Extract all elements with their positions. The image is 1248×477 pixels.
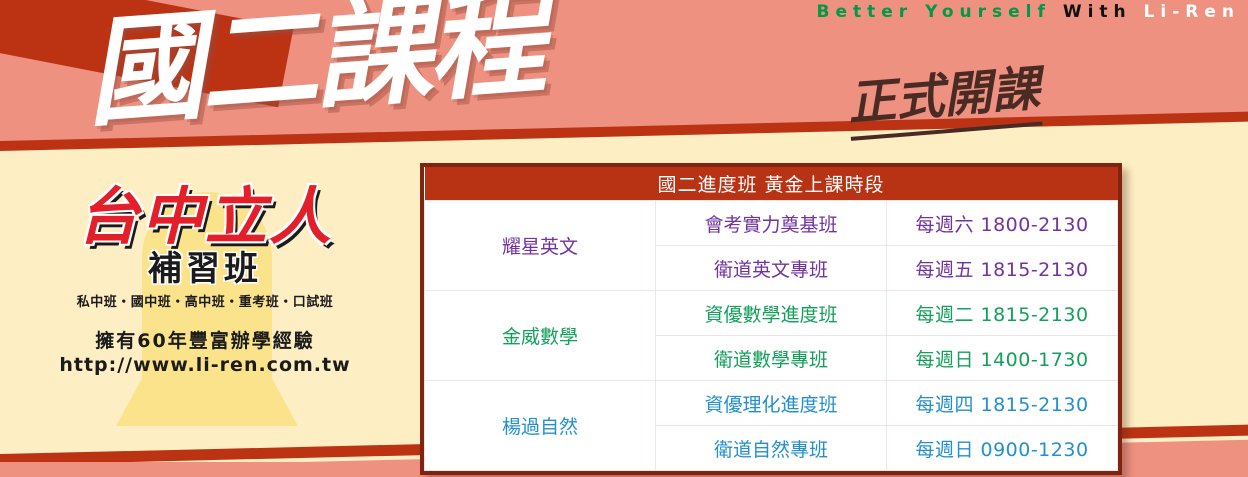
subject-cell: 楊過自然 <box>425 381 656 471</box>
logo-type-name: 補習班 <box>20 252 390 286</box>
course-cell: 衛道自然專班 <box>656 426 887 471</box>
tagline-part-2: With <box>1063 2 1132 22</box>
course-cell: 衛道數學專班 <box>656 336 887 381</box>
headline-container: 國二課程 <box>82 0 546 134</box>
table-row: 耀星英文 會考實力奠基班 每週六 1800-2130 <box>425 201 1118 246</box>
logo-experience: 擁有60年豐富辦學經驗 <box>20 330 390 354</box>
time-cell: 每週六 1800-2130 <box>887 201 1118 246</box>
time-cell: 每週四 1815-2130 <box>887 381 1118 426</box>
time-cell: 每週二 1815-2130 <box>887 291 1118 336</box>
schedule-table-card: 國二進度班 黃金上課時段 耀星英文 會考實力奠基班 每週六 1800-2130 … <box>420 163 1122 475</box>
tagline: Better Yourself With Li-Ren <box>817 2 1240 22</box>
table-row: 金威數學 資優數學進度班 每週二 1815-2130 <box>425 291 1118 336</box>
logo-class-tags: 私中班・國中班・高中班・重考班・口試班 <box>20 291 390 310</box>
tagline-part-3: Li-Ren <box>1144 2 1240 22</box>
subheadline-text: 正式開課 <box>845 49 1043 141</box>
course-cell: 資優數學進度班 <box>656 291 887 336</box>
schedule-body: 耀星英文 會考實力奠基班 每週六 1800-2130 衛道英文專班 每週五 18… <box>425 201 1118 471</box>
subheadline-container: 正式開課 <box>845 49 1043 141</box>
logo-brand-name: 台中立人 <box>20 186 390 248</box>
table-row: 楊過自然 資優理化進度班 每週四 1815-2130 <box>425 381 1118 426</box>
logo-website-url[interactable]: http://www.li-ren.com.tw <box>20 354 390 378</box>
time-cell: 每週日 0900-1230 <box>887 426 1118 471</box>
logo-block: 台中立人 補習班 私中班・國中班・高中班・重考班・口試班 擁有60年豐富辦學經驗… <box>20 186 390 378</box>
time-cell: 每週日 1400-1730 <box>887 336 1118 381</box>
schedule-caption: 國二進度班 黃金上課時段 <box>425 167 1118 201</box>
subject-cell: 金威數學 <box>425 291 656 381</box>
time-cell: 每週五 1815-2130 <box>887 246 1118 291</box>
subject-cell: 耀星英文 <box>425 201 656 291</box>
promo-banner: Better Yourself With Li-Ren 國二課程 正式開課 台中… <box>0 0 1248 477</box>
course-cell: 衛道英文專班 <box>656 246 887 291</box>
schedule-table: 國二進度班 黃金上課時段 耀星英文 會考實力奠基班 每週六 1800-2130 … <box>424 167 1118 471</box>
tagline-part-1: Better Yourself <box>817 2 1051 22</box>
course-cell: 資優理化進度班 <box>656 381 887 426</box>
headline-text: 國二課程 <box>82 0 546 134</box>
course-cell: 會考實力奠基班 <box>656 201 887 246</box>
